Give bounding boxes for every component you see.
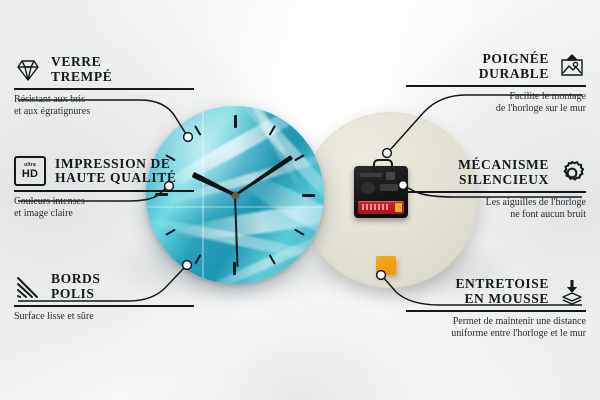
feature-header: ultra HD IMPRESSION DE HAUTE QUALITÉ [14,156,194,186]
mechanism-detail [380,184,398,191]
feature-header: VERRE TREMPÉ [14,55,194,84]
feature-rule [14,305,194,307]
feature-mecanisme-silencieux[interactable]: MÉCANISME SILENCIEUX Les aiguilles de l'… [406,158,586,221]
clock-tick [234,115,236,195]
foam-spacer [376,256,396,275]
feature-verre-trempe[interactable]: VERRE TREMPÉ Résistant aux bris et aux é… [14,55,194,118]
clock-mechanism [354,166,408,218]
mechanism-detail [361,182,375,194]
mechanism-detail [386,172,395,180]
feature-bords-polis[interactable]: BORDS POLIS Surface lisse et sûre [14,272,194,323]
feature-description: Résistant aux bris et aux égratignures [14,94,194,118]
feature-title: ENTRETOISE EN MOUSSE [455,277,549,306]
feature-description: Facilite le montage de l'horloge sur le … [406,91,586,115]
feature-header: MÉCANISME SILENCIEUX [406,158,586,187]
feature-title: MÉCANISME SILENCIEUX [458,158,549,187]
mechanism-hook [373,159,393,170]
feature-title: VERRE TREMPÉ [51,55,112,84]
foam-spacer-icon [558,278,586,306]
gear-icon [558,159,586,187]
feature-impression-haute-qualite[interactable]: ultra HD IMPRESSION DE HAUTE QUALITÉ Cou… [14,156,194,220]
battery [358,201,404,214]
picture-hanger-icon [558,53,586,81]
feature-rule [14,88,194,90]
clock-center-pin [232,192,239,199]
feature-title: POIGNÉE DURABLE [479,52,549,81]
polished-edges-icon [14,273,42,301]
mechanism-detail [360,173,382,177]
diamond-icon [14,56,42,84]
feature-rule [14,190,194,192]
feature-description: Les aiguilles de l'horloge ne font aucun… [406,197,586,221]
clock-tick [235,194,315,196]
feature-header: POIGNÉE DURABLE [406,52,586,81]
battery-label [362,204,390,210]
feature-rule [406,310,586,312]
feature-title: IMPRESSION DE HAUTE QUALITÉ [55,157,176,186]
infographic-canvas: VERRE TREMPÉ Résistant aux bris et aux é… [0,0,600,400]
feature-rule [406,191,586,193]
feature-header: BORDS POLIS [14,272,194,301]
ultra-hd-icon: ultra HD [14,156,46,186]
feature-poignee-durable[interactable]: POIGNÉE DURABLE Facilite le montage de l… [406,52,586,115]
feature-description: Couleurs intenses et image claire [14,196,194,220]
feature-entretoise-en-mousse[interactable]: ENTRETOISE EN MOUSSE Permet de maintenir… [406,277,586,340]
feature-rule [406,85,586,87]
feature-header: ENTRETOISE EN MOUSSE [406,277,586,306]
feature-description: Surface lisse et sûre [14,311,194,323]
feature-description: Permet de maintenir une distance uniform… [406,316,586,340]
feature-title: BORDS POLIS [51,272,101,301]
battery-terminal [395,203,402,212]
